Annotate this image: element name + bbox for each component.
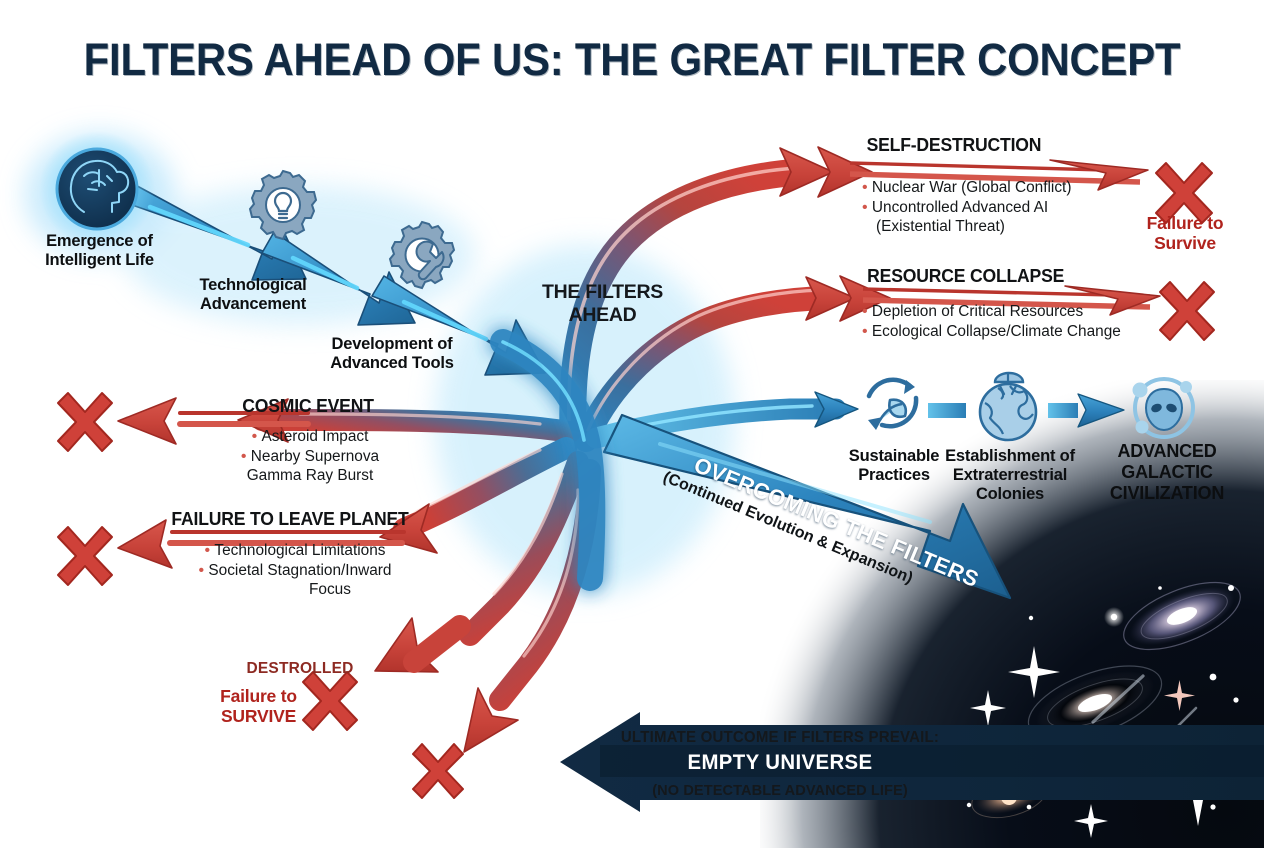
branch-resource-collapse xyxy=(586,276,890,440)
origin-label-line1: Emergence of xyxy=(46,232,153,250)
star-field xyxy=(967,585,1256,810)
bullet-dot: • xyxy=(241,448,247,465)
banner-middle-text: EMPTY UNIVERSE xyxy=(605,751,954,775)
branch-self-destruction xyxy=(569,147,872,430)
red-x-icon xyxy=(303,672,357,730)
red-x-icon xyxy=(1156,163,1212,223)
filter-heading-failure-to-leave-planet: FAILURE TO LEAVE PLANET xyxy=(167,508,414,529)
filter-bullets-self-destruction: • Nuclear War (Global Conflict) • Uncont… xyxy=(862,178,1071,237)
banner-top-text: ULTIMATE OUTCOME IF FILTERS PREVAIL: xyxy=(605,729,954,747)
bullet-dot: • xyxy=(862,323,868,340)
arrow-into-filters xyxy=(372,276,545,375)
branch-destroyed xyxy=(375,462,578,672)
branch-failure-to-leave-planet xyxy=(118,448,566,568)
bullet-dot: • xyxy=(199,562,205,579)
big-arrow-overcoming-filters xyxy=(604,415,1010,598)
bullet-dot: • xyxy=(862,303,868,320)
red-x-icon xyxy=(58,527,112,585)
gear-wrench-icon xyxy=(390,222,454,288)
heading-rules xyxy=(850,160,1160,315)
comet-icon xyxy=(1093,676,1196,744)
red-x-icon xyxy=(1160,282,1214,340)
filter-bullets-cosmic-event: • Asteroid Impact • Nearby Supernova Gam… xyxy=(170,427,450,486)
red-x-icon xyxy=(413,744,463,798)
filter-bullets-failure-to-leave-planet: • Technological Limitations • Societal S… xyxy=(150,541,440,600)
galaxy-icon xyxy=(968,769,1051,824)
branch-cosmic-event xyxy=(118,398,570,444)
alien-orbit-icon xyxy=(1133,379,1194,437)
bullet-dot: • xyxy=(862,179,868,196)
filter-bullets-resource-collapse: • Depletion of Critical Resources • Ecol… xyxy=(862,302,1121,341)
origin-label: Emergence of Intelligent Life xyxy=(22,232,177,270)
recycle-leaf-icon xyxy=(868,380,916,430)
origin-label-line2: Intelligent Life xyxy=(45,251,154,269)
filters-hub xyxy=(503,342,592,578)
galaxy-icon xyxy=(1115,569,1249,664)
star-icon xyxy=(1164,680,1195,711)
space-background xyxy=(0,0,1264,848)
destroyed-label: Failure to SURVIVE xyxy=(196,686,321,726)
step-label-technological-advancement: Technological Advancement xyxy=(178,276,328,314)
filter-heading-self-destruction: SELF-DESTRUCTION xyxy=(867,134,1042,155)
filter-heading-resource-collapse: RESOURCE COLLAPSE xyxy=(867,265,1064,286)
center-label: THE FILTERS AHEAD xyxy=(515,281,690,327)
center-label-line2: AHEAD xyxy=(569,304,637,326)
flow-arrows xyxy=(0,0,1264,848)
success-step-label-extraterrestrial-colonies: Establishment of Extraterrestrial Coloni… xyxy=(940,447,1080,504)
bullet-dot: • xyxy=(252,428,258,445)
success-step-label-sustainable-practices: Sustainable Practices xyxy=(836,447,952,485)
banner-bottom-text: (NO DETECTABLE ADVANCED LIFE) xyxy=(601,782,960,799)
filter-heading-cosmic-event: COSMIC EVENT xyxy=(185,395,432,416)
branch-success-path xyxy=(596,392,858,438)
destroyed-heading: DESTROLLED xyxy=(235,660,365,678)
star-icon xyxy=(970,646,1229,838)
branch-destroyed-secondary xyxy=(464,470,590,752)
overcoming-filters-label: OVERCOMING THE FILTERS (Continued Evolut… xyxy=(682,452,940,594)
infographic-canvas: FILTERS AHEAD OF US: THE GREAT FILTER CO… xyxy=(0,0,1264,848)
success-sub-arrows xyxy=(928,394,1124,427)
icons-layer xyxy=(0,0,1264,848)
arrow-technological-advancement xyxy=(118,181,306,280)
gear-lightbulb-icon xyxy=(250,171,316,239)
earth-dome-colony-icon xyxy=(980,373,1036,440)
bullet-dot: • xyxy=(862,199,868,216)
banner-arrow-empty-universe xyxy=(560,712,1264,812)
brain-head-icon xyxy=(39,131,155,247)
page-title: FILTERS AHEAD OF US: THE GREAT FILTER CO… xyxy=(44,34,1220,86)
step-label-advanced-tools: Development of Advanced Tools xyxy=(316,335,468,373)
galaxy-icon xyxy=(1019,651,1171,755)
arrow-development-advanced-tools xyxy=(262,232,415,325)
outcome-label-self-destruction: Failure to Survive xyxy=(1120,213,1250,253)
center-label-line1: THE FILTERS xyxy=(542,281,663,303)
success-endpoint-label: ADVANCED GALACTIC CIVILIZATION xyxy=(1094,441,1240,504)
red-x-icon xyxy=(58,393,112,451)
bullet-dot: • xyxy=(205,542,211,559)
